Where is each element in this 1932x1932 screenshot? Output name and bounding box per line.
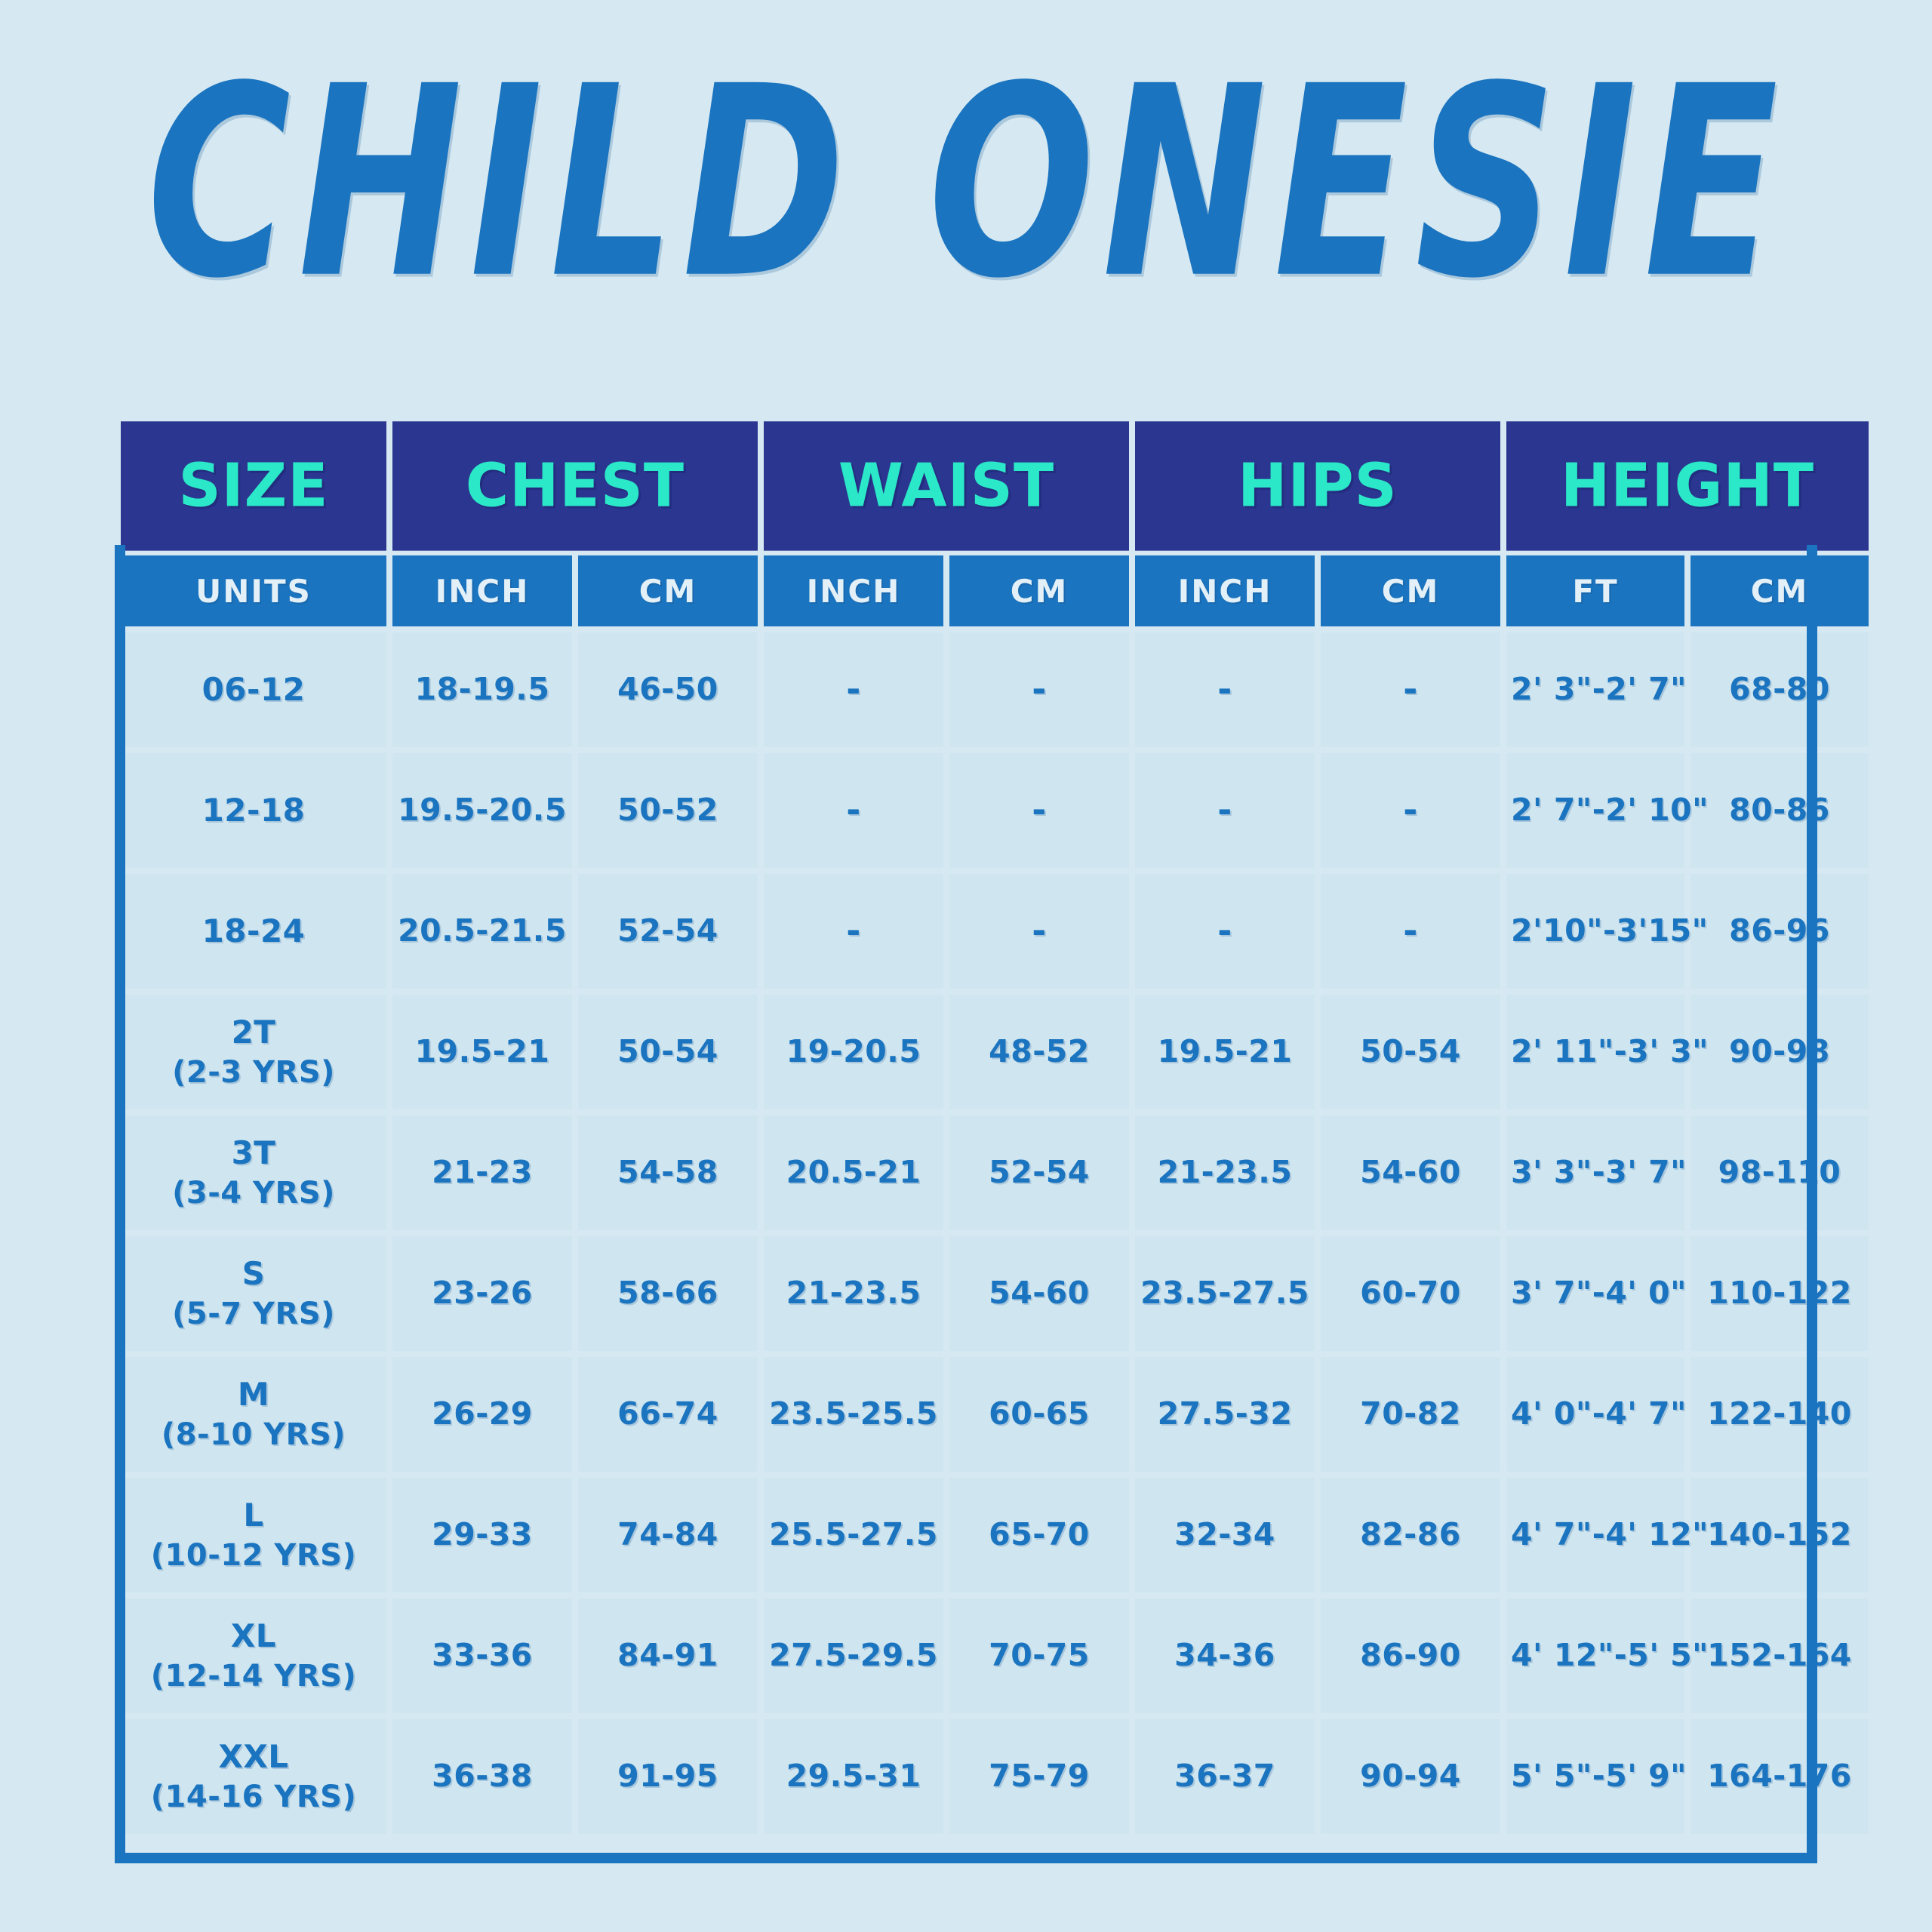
size-label: XL — [231, 1617, 276, 1654]
cell-chest-inch: 20.5-21.5 — [392, 874, 572, 989]
table-row: L(10-12 YRS)29-3374-8425.5-27.565-7032-3… — [121, 1478, 1869, 1592]
cell-hips-cm: 70-82 — [1321, 1357, 1500, 1472]
cell-waist-cm: 54-60 — [949, 1236, 1129, 1351]
size-age-range: (5-7 YRS) — [125, 1294, 382, 1334]
cell-hips-inch: 36-37 — [1135, 1719, 1315, 1834]
cell-waist-cm: 65-70 — [949, 1478, 1129, 1592]
group-header-hips: HIPS — [1135, 421, 1500, 550]
group-header-row: SIZE CHEST WAIST HIPS HEIGHT — [121, 423, 1869, 549]
cell-hips-cm: 86-90 — [1321, 1598, 1500, 1713]
table-body: 06-1218-19.546-50----2' 3"-2' 7"68-8012-… — [121, 632, 1869, 1834]
table-row: 06-1218-19.546-50----2' 3"-2' 7"68-80 — [121, 632, 1869, 747]
cell-height-ft: 4' 12"-5' 5" — [1506, 1598, 1684, 1713]
cell-waist-inch: 23.5-25.5 — [764, 1357, 943, 1472]
cell-chest-cm: 66-74 — [578, 1357, 758, 1472]
cell-size: 12-18 — [121, 753, 386, 868]
unit-header-waist-inch: INCH — [764, 555, 943, 626]
cell-size: 3T(3-4 YRS) — [121, 1115, 386, 1230]
size-age-range: (14-16 YRS) — [125, 1777, 382, 1817]
cell-hips-inch: - — [1135, 874, 1315, 989]
size-label: M — [238, 1376, 269, 1413]
cell-height-cm: 80-86 — [1690, 753, 1869, 868]
group-header-chest: CHEST — [392, 421, 758, 550]
units-header-row: UNITS INCH CM INCH CM INCH CM FT CM — [121, 555, 1869, 626]
cell-hips-inch: 32-34 — [1135, 1478, 1315, 1592]
size-chart-table: SIZE CHEST WAIST HIPS HEIGHT UNITS INCH … — [115, 417, 1875, 1840]
cell-hips-cm: - — [1321, 632, 1500, 747]
cell-waist-cm: - — [949, 753, 1129, 868]
cell-hips-inch: 21-23.5 — [1135, 1115, 1315, 1230]
unit-header-chest-inch: INCH — [392, 555, 572, 626]
cell-chest-inch: 21-23 — [392, 1115, 572, 1230]
table-row: M(8-10 YRS)26-2966-7423.5-25.560-6527.5-… — [121, 1357, 1869, 1472]
cell-chest-cm: 58-66 — [578, 1236, 758, 1351]
cell-size: 2T(2-3 YRS) — [121, 995, 386, 1109]
cell-hips-cm: 82-86 — [1321, 1478, 1500, 1592]
size-label: 3T — [232, 1134, 276, 1171]
size-age-range: (2-3 YRS) — [125, 1053, 382, 1092]
unit-header-units: UNITS — [121, 555, 386, 626]
size-label: 06-12 — [202, 671, 306, 708]
cell-chest-inch: 19.5-20.5 — [392, 753, 572, 868]
cell-waist-inch: - — [764, 632, 943, 747]
cell-height-cm: 110-122 — [1690, 1236, 1869, 1351]
cell-chest-cm: 84-91 — [578, 1598, 758, 1713]
cell-hips-cm: 60-70 — [1321, 1236, 1500, 1351]
cell-height-cm: 122-140 — [1690, 1357, 1869, 1472]
size-age-range: (10-12 YRS) — [125, 1536, 382, 1575]
size-label: XXL — [218, 1738, 288, 1775]
cell-chest-inch: 26-29 — [392, 1357, 572, 1472]
cell-size: 18-24 — [121, 874, 386, 989]
cell-chest-cm: 46-50 — [578, 632, 758, 747]
cell-height-cm: 90-98 — [1690, 995, 1869, 1109]
cell-waist-cm: 48-52 — [949, 995, 1129, 1109]
cell-height-ft: 5' 5"-5' 9" — [1506, 1719, 1684, 1834]
table-row: 3T(3-4 YRS)21-2354-5820.5-2152-5421-23.5… — [121, 1115, 1869, 1230]
cell-waist-cm: 52-54 — [949, 1115, 1129, 1230]
size-label: 12-18 — [202, 792, 306, 829]
table-row: S(5-7 YRS)23-2658-6621-23.554-6023.5-27.… — [121, 1236, 1869, 1351]
size-label: 2T — [232, 1014, 276, 1051]
cell-waist-inch: - — [764, 753, 943, 868]
cell-chest-inch: 18-19.5 — [392, 632, 572, 747]
cell-chest-cm: 74-84 — [578, 1478, 758, 1592]
page-title: CHILD ONESIE — [146, 59, 1785, 309]
table-row: 18-2420.5-21.552-54----2'10"-3'15"86-96 — [121, 874, 1869, 989]
cell-chest-cm: 50-52 — [578, 753, 758, 868]
cell-size: XL(12-14 YRS) — [121, 1598, 386, 1713]
table-row: 2T(2-3 YRS)19.5-2150-5419-20.548-5219.5-… — [121, 995, 1869, 1109]
cell-size: S(5-7 YRS) — [121, 1236, 386, 1351]
size-chart-table-wrapper: SIZE CHEST WAIST HIPS HEIGHT UNITS INCH … — [115, 417, 1817, 1840]
cell-hips-inch: 27.5-32 — [1135, 1357, 1315, 1472]
unit-header-hips-inch: INCH — [1135, 555, 1315, 626]
cell-chest-inch: 19.5-21 — [392, 995, 572, 1109]
cell-size: XXL(14-16 YRS) — [121, 1719, 386, 1834]
cell-height-cm: 68-80 — [1690, 632, 1869, 747]
cell-waist-cm: 75-79 — [949, 1719, 1129, 1834]
cell-height-cm: 98-110 — [1690, 1115, 1869, 1230]
unit-header-hips-cm: CM — [1321, 555, 1500, 626]
size-age-range: (8-10 YRS) — [125, 1415, 382, 1454]
group-header-waist: WAIST — [764, 421, 1129, 550]
cell-chest-cm: 54-58 — [578, 1115, 758, 1230]
cell-waist-inch: 27.5-29.5 — [764, 1598, 943, 1713]
cell-waist-cm: 70-75 — [949, 1598, 1129, 1713]
cell-height-ft: 2'10"-3'15" — [1506, 874, 1684, 989]
cell-height-cm: 140-152 — [1690, 1478, 1869, 1592]
cell-hips-inch: 34-36 — [1135, 1598, 1315, 1713]
table-base-rule — [115, 1853, 1817, 1863]
cell-height-cm: 86-96 — [1690, 874, 1869, 989]
unit-header-height-ft: FT — [1506, 555, 1684, 626]
cell-hips-cm: 54-60 — [1321, 1115, 1500, 1230]
cell-hips-inch: - — [1135, 753, 1315, 868]
cell-chest-cm: 91-95 — [578, 1719, 758, 1834]
cell-hips-inch: - — [1135, 632, 1315, 747]
unit-header-height-cm: CM — [1690, 555, 1869, 626]
cell-hips-inch: 23.5-27.5 — [1135, 1236, 1315, 1351]
group-header-size: SIZE — [121, 421, 386, 550]
cell-height-ft: 3' 3"-3' 7" — [1506, 1115, 1684, 1230]
cell-chest-inch: 29-33 — [392, 1478, 572, 1592]
page-title-wrap: CHILD ONESIE — [0, 59, 1932, 251]
cell-size: 06-12 — [121, 632, 386, 747]
cell-waist-cm: 60-65 — [949, 1357, 1129, 1472]
cell-chest-inch: 23-26 — [392, 1236, 572, 1351]
cell-chest-cm: 52-54 — [578, 874, 758, 989]
cell-height-ft: 4' 7"-4' 12" — [1506, 1478, 1684, 1592]
cell-height-ft: 4' 0"-4' 7" — [1506, 1357, 1684, 1472]
cell-waist-inch: 19-20.5 — [764, 995, 943, 1109]
cell-waist-cm: - — [949, 632, 1129, 747]
cell-height-cm: 164-176 — [1690, 1719, 1869, 1834]
cell-chest-cm: 50-54 — [578, 995, 758, 1109]
cell-height-cm: 152-164 — [1690, 1598, 1869, 1713]
table-row: XL(12-14 YRS)33-3684-9127.5-29.570-7534-… — [121, 1598, 1869, 1713]
table-head: SIZE CHEST WAIST HIPS HEIGHT UNITS INCH … — [121, 423, 1869, 626]
unit-header-chest-cm: CM — [578, 555, 758, 626]
cell-waist-inch: 29.5-31 — [764, 1719, 943, 1834]
cell-waist-inch: 25.5-27.5 — [764, 1478, 943, 1592]
cell-waist-inch: - — [764, 874, 943, 989]
cell-height-ft: 3' 7"-4' 0" — [1506, 1236, 1684, 1351]
table-right-rule — [1807, 545, 1817, 1863]
cell-chest-inch: 36-38 — [392, 1719, 572, 1834]
size-label: 18-24 — [202, 912, 306, 949]
cell-height-ft: 2' 11"-3' 3" — [1506, 995, 1684, 1109]
cell-size: M(8-10 YRS) — [121, 1357, 386, 1472]
cell-height-ft: 2' 3"-2' 7" — [1506, 632, 1684, 747]
size-age-range: (3-4 YRS) — [125, 1174, 382, 1213]
size-label: L — [243, 1497, 263, 1534]
cell-hips-cm: - — [1321, 753, 1500, 868]
size-age-range: (12-14 YRS) — [125, 1657, 382, 1696]
cell-size: L(10-12 YRS) — [121, 1478, 386, 1592]
cell-waist-inch: 21-23.5 — [764, 1236, 943, 1351]
unit-header-waist-cm: CM — [949, 555, 1129, 626]
size-label: S — [242, 1255, 266, 1292]
group-header-height: HEIGHT — [1506, 421, 1869, 550]
cell-hips-cm: 50-54 — [1321, 995, 1500, 1109]
cell-waist-cm: - — [949, 874, 1129, 989]
cell-chest-inch: 33-36 — [392, 1598, 572, 1713]
cell-hips-cm: - — [1321, 874, 1500, 989]
table-row: 12-1819.5-20.550-52----2' 7"-2' 10"80-86 — [121, 753, 1869, 868]
size-chart-page: CHILD ONESIE SIZE CHEST WAIST HIPS HEIGH… — [0, 0, 1932, 1932]
cell-hips-inch: 19.5-21 — [1135, 995, 1315, 1109]
table-left-rule — [115, 545, 125, 1863]
table-row: XXL(14-16 YRS)36-3891-9529.5-3175-7936-3… — [121, 1719, 1869, 1834]
cell-height-ft: 2' 7"-2' 10" — [1506, 753, 1684, 868]
cell-waist-inch: 20.5-21 — [764, 1115, 943, 1230]
cell-hips-cm: 90-94 — [1321, 1719, 1500, 1834]
